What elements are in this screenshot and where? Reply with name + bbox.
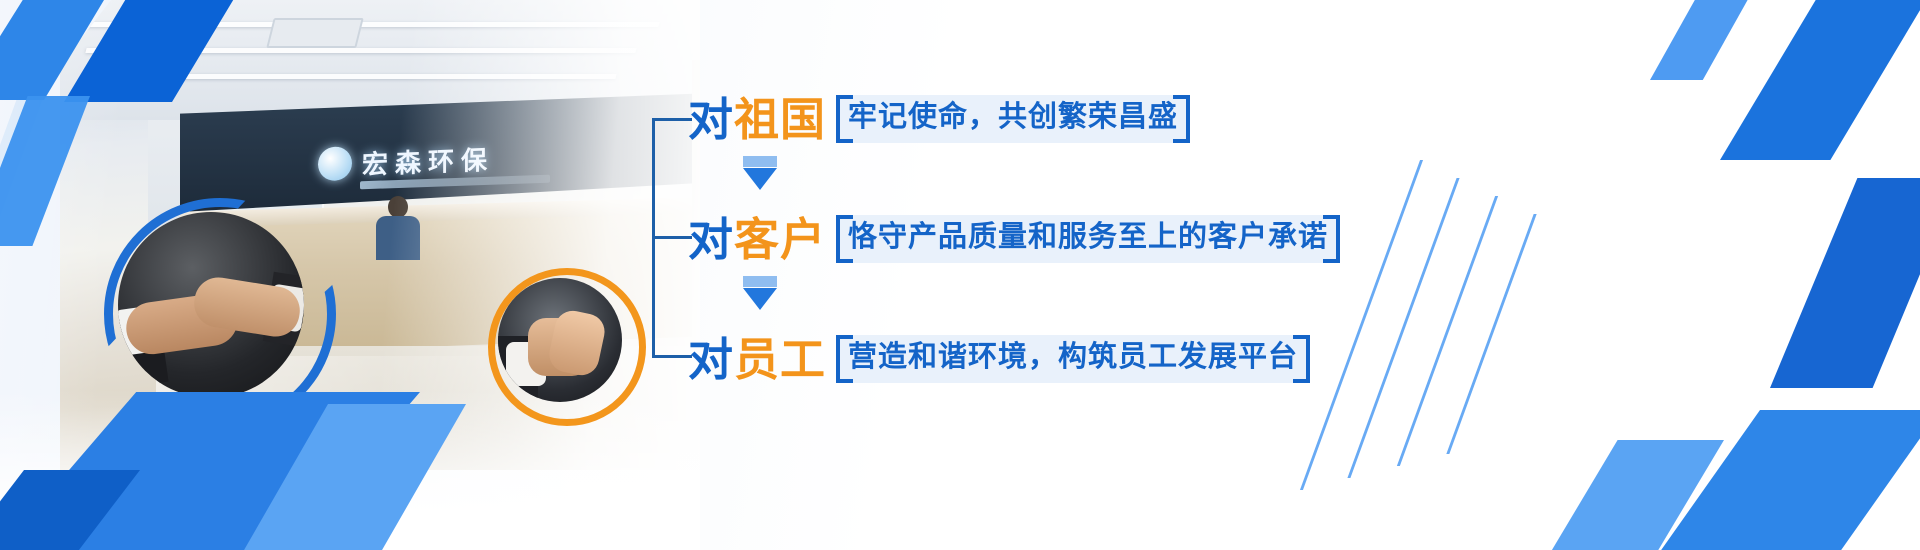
company-values-banner: 宏森环保 [0, 0, 1920, 550]
value-label-customer: 对客户 [688, 217, 826, 262]
value-prefix: 对 [688, 214, 734, 265]
row-gap [688, 150, 1388, 208]
value-row-country: 对祖国 牢记使命，共创繁荣昌盛 [688, 88, 1388, 150]
arrow-head [743, 288, 777, 310]
value-phrase-country: 牢记使命，共创繁荣昌盛 [836, 95, 1190, 143]
connector-branch [652, 236, 692, 239]
connector-branch [652, 118, 692, 121]
value-target: 祖国 [734, 94, 826, 145]
value-phrase-customer: 恪守产品质量和服务至上的客户承诺 [836, 215, 1340, 263]
deco-stripe [1446, 214, 1536, 454]
arrow-head [743, 168, 777, 190]
value-row-customer: 对客户 恪守产品质量和服务至上的客户承诺 [688, 208, 1388, 270]
value-label-employee: 对员工 [688, 337, 826, 382]
arrow-bar [743, 156, 777, 167]
row-gap [688, 270, 1388, 328]
value-phrase-employee: 营造和谐环境，构筑员工发展平台 [836, 335, 1310, 383]
value-prefix: 对 [688, 94, 734, 145]
value-statements-list: 对祖国 牢记使命，共创繁荣昌盛 对客户 恪守产品质量和服务至上的客户承诺 [688, 88, 1388, 390]
orange-ring [488, 268, 646, 426]
deco-stripe [1397, 196, 1498, 466]
value-target: 客户 [734, 214, 826, 265]
value-row-employee: 对员工 营造和谐环境，构筑员工发展平台 [688, 328, 1388, 390]
value-label-country: 对祖国 [688, 97, 826, 142]
value-target: 员工 [734, 334, 826, 385]
value-prefix: 对 [688, 334, 734, 385]
connector-branch [652, 355, 692, 358]
arrow-bar [743, 276, 777, 287]
